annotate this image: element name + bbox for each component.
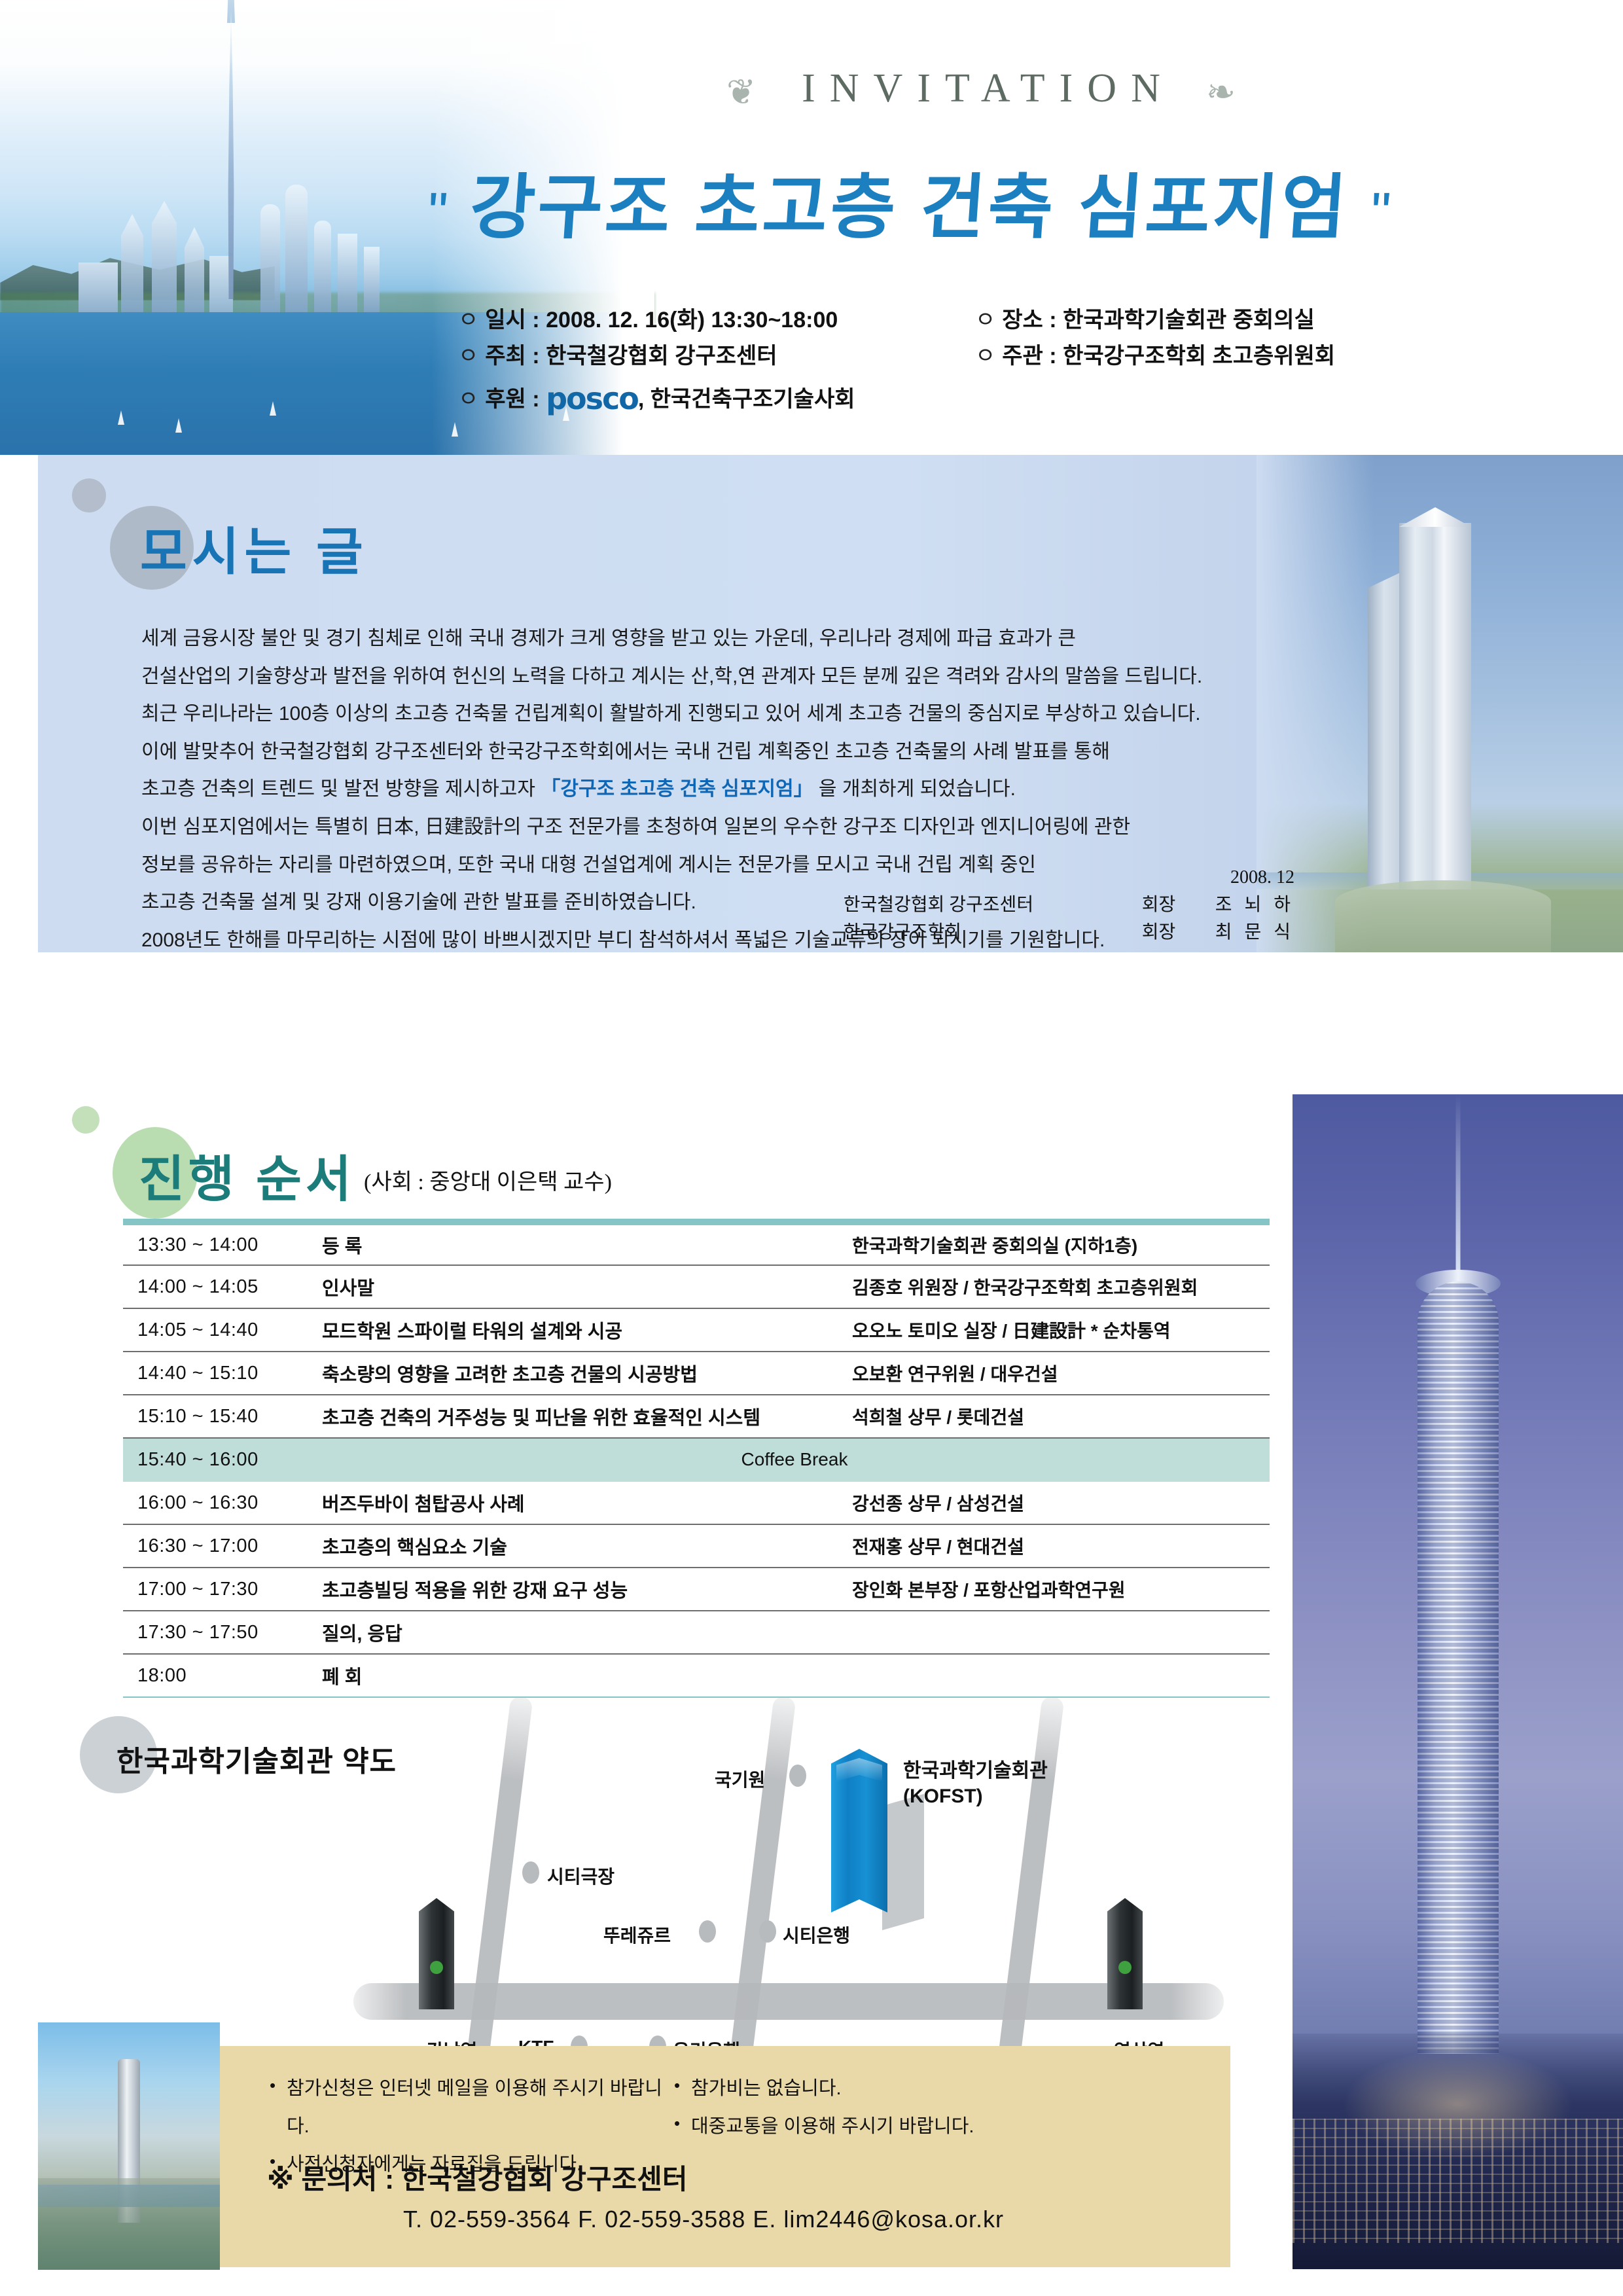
- symposium-title-text: 강구조 초고층 건축 심포지엄: [467, 168, 1351, 247]
- contact-label: ※ 문의처 : 한국철강협회 강구조센터: [267, 2157, 687, 2197]
- schedule-speaker: [849, 1654, 1270, 1697]
- city-band: [38, 2178, 220, 2270]
- schedule-topic: 질의, 응답: [319, 1611, 849, 1654]
- tower-shaft: [1418, 1282, 1499, 2054]
- signature-title: 회장: [1142, 891, 1198, 919]
- light-beam: [1455, 1094, 1460, 1291]
- header-section: ❦INVITATION❧ " 강구조 초고층 건축 심포지엄 " ㅇ일시 : 2…: [0, 0, 1623, 455]
- schedule-topic: 등 록: [319, 1222, 849, 1265]
- greeting-line-highlighted: 초고층 건축의 트렌드 및 발전 방향을 제시하고자 「강구조 초고층 건축 심…: [141, 770, 1293, 808]
- table-row: 15:10 ~ 15:40초고층 건축의 거주성능 및 피난을 위한 효율적인 …: [123, 1395, 1270, 1438]
- signature-row: 한국철강협회 강구조센터 회장 조 뇌 하: [810, 891, 1294, 919]
- invitation-wordmark: ❦INVITATION❧: [0, 65, 1623, 113]
- schedule-speaker: 오오노 토미오 실장 / 日建設計 * 순차통역: [849, 1308, 1270, 1352]
- schedule-speaker: 강선종 상무 / 삼성건설: [849, 1481, 1270, 1524]
- schedule-topic: 폐 회: [319, 1654, 849, 1697]
- title-open-quote: ": [425, 181, 450, 244]
- tower-photo-right: [1257, 455, 1623, 952]
- tower-roof-cap: [1399, 507, 1471, 527]
- schedule-speaker: 김종호 위원장 / 한국강구조학회 초고층위원회: [849, 1265, 1270, 1308]
- poi-dot: [699, 1920, 716, 1943]
- schedule-time: 13:30 ~ 14:00: [123, 1222, 319, 1265]
- schedule-topic: 버즈두바이 첨탑공사 사례: [319, 1481, 849, 1524]
- meta-sponsor: ㅇ후원 : posco, 한국건축구조기술사회: [458, 374, 1309, 423]
- map-road-horizontal: [353, 1983, 1224, 2020]
- schedule-time: 17:00 ~ 17:30: [123, 1568, 319, 1611]
- meta-row-date-venue: ㅇ일시 : 2008. 12. 16(화) 13:30~18:00 ㅇ장소 : …: [458, 302, 1505, 338]
- kofst-abbr: (KOFST): [903, 1784, 1048, 1809]
- venue-value: 한국과학기술회관 중회의실: [1063, 308, 1315, 332]
- table-row: 18:00폐 회: [123, 1654, 1270, 1697]
- tower-main-shaft: [1399, 523, 1471, 889]
- host-label: 주최: [485, 344, 526, 368]
- subway-station-marker-yeoksam: [1107, 1898, 1143, 2009]
- organizer-value: 한국강구조학회 초고층위원회: [1063, 344, 1335, 368]
- sailboat-icon: [270, 401, 276, 416]
- map-label-gukgiwon: 국기원: [715, 1766, 765, 1792]
- ornamental-flourish-icon: ❦: [726, 71, 770, 113]
- meta-host: ㅇ주최 : 한국철강협회 강구조센터: [458, 338, 975, 374]
- kofst-building-icon: [831, 1749, 887, 1912]
- symposium-title-highlight: 「강구조 초고층 건축 심포지엄」: [541, 778, 813, 800]
- signature-org: 한국철강협회 강구조센터: [844, 891, 1125, 919]
- host-value: 한국철강협회 강구조센터: [546, 344, 777, 368]
- table-row: 15:40 ~ 16:00Coffee Break: [123, 1438, 1270, 1481]
- schedule-time: 14:00 ~ 14:05: [123, 1265, 319, 1308]
- greeting-heading: 모시는 글: [140, 511, 368, 584]
- table-row: 14:40 ~ 15:10축소량의 영향을 고려한 초고층 건물의 시공방법오보…: [123, 1352, 1270, 1395]
- greeting-line: 최근 우리나라는 100층 이상의 초고층 건축물 건립계획이 활발하게 진행되…: [141, 695, 1293, 733]
- greeting-line: 건설산업의 기술향상과 발전을 위하여 헌신의 노력을 다하고 계시는 산,학,…: [141, 658, 1293, 696]
- table-row: 13:30 ~ 14:00등 록한국과학기술회관 중회의실 (지하1층): [123, 1222, 1270, 1265]
- footer-notes-right: 참가비는 없습니다. 대중교통을 이용해 주시기 바랍니다.: [674, 2070, 1041, 2145]
- building-block: [185, 227, 204, 312]
- event-details: ㅇ일시 : 2008. 12. 16(화) 13:30~18:00 ㅇ장소 : …: [458, 302, 1505, 423]
- poi-dot: [789, 1765, 806, 1787]
- bullet-marker-icon: ㅇ: [458, 344, 478, 368]
- decorative-dot-small: [72, 1106, 99, 1134]
- tower-podium: [1335, 880, 1551, 952]
- signature-name: 조 뇌 하: [1215, 891, 1294, 919]
- schedule-time: 14:05 ~ 14:40: [123, 1308, 319, 1352]
- schedule-topic: 초고층 건축의 거주성능 및 피난을 위한 효율적인 시스템: [319, 1395, 849, 1438]
- building-shadow: [882, 1794, 924, 1930]
- footer-note-item: 참가비는 없습니다.: [674, 2070, 1041, 2108]
- map-label-citibank: 시티은행: [783, 1922, 850, 1948]
- contact-detail[interactable]: T. 02-559-3564 F. 02-559-3588 E. lim2446…: [403, 2206, 1004, 2233]
- greeting-line: 이번 심포지엄에서는 특별히 日本, 日建設計의 구조 전문가를 초청하여 일본…: [141, 808, 1293, 846]
- signature-date: 2008. 12: [810, 864, 1294, 891]
- decorative-dot-small: [72, 478, 106, 512]
- schedule-time: 15:10 ~ 15:40: [123, 1395, 319, 1438]
- kofst-name: 한국과학기술회관: [903, 1758, 1048, 1784]
- schedule-topic: Coffee Break: [319, 1438, 1270, 1481]
- table-row: 14:05 ~ 14:40모드학원 스파이럴 타워의 설계와 시공오오노 토미오…: [123, 1308, 1270, 1352]
- sailboat-icon: [118, 410, 124, 425]
- map-label-ddurejur: 뚜레쥬르: [603, 1922, 671, 1948]
- table-row: 17:00 ~ 17:30초고층빌딩 적용을 위한 강재 요구 성능장인화 본부…: [123, 1568, 1270, 1611]
- subway-station-marker-gangnam: [419, 1898, 454, 2009]
- table-row: 17:30 ~ 17:50질의, 응답: [123, 1611, 1270, 1654]
- signature-row: 한국강구조학회 회장 최 문 식: [810, 919, 1294, 946]
- date-value: 2008. 12. 16(화) 13:30~18:00: [546, 308, 838, 332]
- organizer-label: 주관: [1002, 344, 1043, 368]
- program-heading: 진행 순서: [139, 1139, 355, 1211]
- invitation-text: INVITATION: [802, 66, 1175, 111]
- meta-date: ㅇ일시 : 2008. 12. 16(화) 13:30~18:00: [458, 302, 975, 338]
- building-block: [79, 262, 118, 312]
- schedule-time: 16:30 ~ 17:00: [123, 1524, 319, 1568]
- schedule-time: 14:40 ~ 15:10: [123, 1352, 319, 1395]
- meta-organizer: ㅇ주관 : 한국강구조학회 초고층위원회: [975, 338, 1486, 374]
- building-block: [152, 201, 177, 312]
- greeting-line: 세계 금융시장 불안 및 경기 침체로 인해 국내 경제가 크게 영향을 받고 …: [141, 620, 1293, 658]
- schedule-table: 13:30 ~ 14:00등 록한국과학기술회관 중회의실 (지하1층)14:0…: [123, 1219, 1270, 1698]
- city-lights: [1293, 2119, 1623, 2243]
- footer-note-item: 참가신청은 인터넷 메일을 이용해 주시기 바랍니다.: [270, 2070, 662, 2145]
- signature-org: 한국강구조학회: [844, 919, 1125, 946]
- sponsor-value: , 한국건축구조기술사회: [638, 387, 855, 412]
- footer-note-item: 대중교통을 이용해 주시기 바랍니다.: [674, 2108, 1041, 2145]
- building-block: [364, 247, 380, 312]
- schedule-topic: 인사말: [319, 1265, 849, 1308]
- posco-logo: posco: [546, 381, 638, 416]
- schedule-topic: 초고층빌딩 적용을 위한 강재 요구 성능: [319, 1568, 849, 1611]
- poi-dot: [522, 1861, 539, 1884]
- table-row: 14:00 ~ 14:05인사말김종호 위원장 / 한국강구조학회 초고층위원회: [123, 1265, 1270, 1308]
- schedule-time: 16:00 ~ 16:30: [123, 1481, 319, 1524]
- venue-label: 장소: [1002, 308, 1043, 332]
- tower-thumbnail-image: [38, 2022, 220, 2270]
- schedule-time: 18:00: [123, 1654, 319, 1697]
- signature-title: 회장: [1142, 919, 1198, 946]
- kofst-label: 한국과학기술회관 (KOFST): [903, 1758, 1048, 1809]
- schedule-topic: 축소량의 영향을 고려한 초고층 건물의 시공방법: [319, 1352, 849, 1395]
- sailboat-icon: [175, 418, 182, 433]
- program-host-note: (사회 : 중앙대 이은택 교수): [364, 1164, 612, 1196]
- table-row: 16:30 ~ 17:00초고층의 핵심요소 기술전재홍 상무 / 현대건설: [123, 1524, 1270, 1568]
- meta-venue: ㅇ장소 : 한국과학기술회관 중회의실: [975, 302, 1486, 338]
- table-row: 16:00 ~ 16:30버즈두바이 첨탑공사 사례강선종 상무 / 삼성건설: [123, 1481, 1270, 1524]
- page-title: " 강구조 초고층 건축 심포지엄 ": [350, 151, 1470, 253]
- night-tower-image: [1293, 1094, 1623, 2269]
- schedule-speaker: 한국과학기술회관 중회의실 (지하1층): [849, 1222, 1270, 1265]
- meta-row-sponsor: ㅇ후원 : posco, 한국건축구조기술사회: [458, 374, 1505, 423]
- schedule-speaker: 장인화 본부장 / 포항산업과학연구원: [849, 1568, 1270, 1611]
- building-block: [314, 221, 331, 312]
- greeting-line: 이에 발맞추어 한국철강협회 강구조센터와 한국강구조학회에서는 국내 건립 계…: [141, 733, 1293, 771]
- ornamental-flourish-icon: ❧: [1206, 71, 1250, 113]
- signature-block: 2008. 12 한국철강협회 강구조센터 회장 조 뇌 하 한국강구조학회 회…: [810, 864, 1294, 946]
- schedule-time: 17:30 ~ 17:50: [123, 1611, 319, 1654]
- bullet-marker-icon: ㅇ: [458, 387, 478, 412]
- sponsor-label: 후원: [485, 387, 526, 412]
- bullet-marker-icon: ㅇ: [975, 344, 995, 368]
- schedule-topic: 모드학원 스파이럴 타워의 설계와 시공: [319, 1308, 849, 1352]
- highlight-prefix: 초고층 건축의 트렌드 및 발전 방향을 제시하고자: [141, 778, 541, 800]
- map-label-city-theater: 시티극장: [547, 1863, 615, 1889]
- schedule-topic: 초고층의 핵심요소 기술: [319, 1524, 849, 1568]
- building-block: [260, 204, 280, 312]
- poi-dot: [759, 1920, 776, 1943]
- building-block: [285, 185, 308, 312]
- schedule-time: 15:40 ~ 16:00: [123, 1438, 319, 1481]
- building-block: [121, 214, 143, 312]
- sailboat-icon: [452, 422, 458, 437]
- highlight-suffix: 을 개최하게 되었습니다.: [813, 778, 1016, 800]
- schedule-speaker: [849, 1611, 1270, 1654]
- title-close-quote: ": [1368, 181, 1393, 244]
- signature-name: 최 문 식: [1215, 919, 1294, 946]
- bullet-marker-icon: ㅇ: [458, 308, 478, 332]
- greeting-panel: 모시는 글 세계 금융시장 불안 및 경기 침체로 인해 국내 경제가 크게 영…: [38, 455, 1623, 952]
- schedule-speaker: 오보환 연구위원 / 대우건설: [849, 1352, 1270, 1395]
- schedule-speaker: 석희철 상무 / 롯데건설: [849, 1395, 1270, 1438]
- date-label: 일시: [485, 308, 526, 332]
- bullet-marker-icon: ㅇ: [975, 308, 995, 332]
- meta-row-host-organizer: ㅇ주최 : 한국철강협회 강구조센터 ㅇ주관 : 한국강구조학회 초고층위원회: [458, 338, 1505, 374]
- schedule-speaker: 전재홍 상무 / 현대건설: [849, 1524, 1270, 1568]
